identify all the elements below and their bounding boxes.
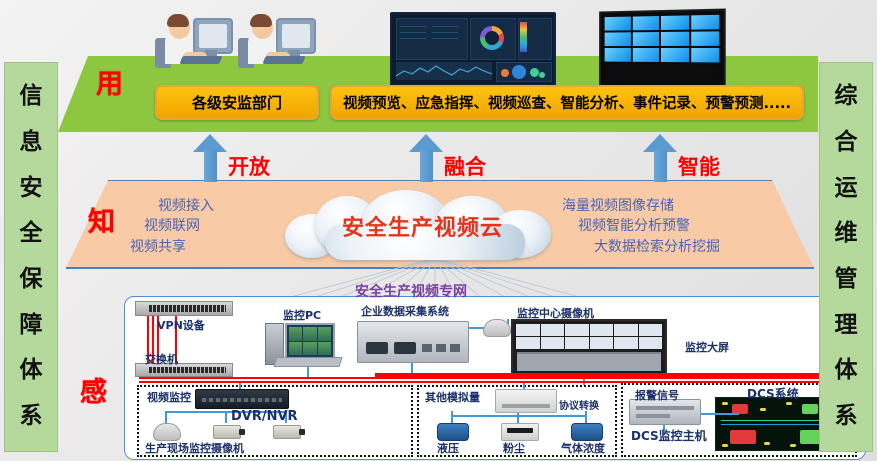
banner-right-operations-management: 综 合 运 维 管 理 体 系 bbox=[819, 62, 873, 452]
box-application-functions[interactable]: 视频预览、应急指挥、视频巡查、智能分析、事件记录、预警预测..... bbox=[330, 85, 804, 120]
cloud-right-item: 视频智能分析预警 bbox=[562, 216, 720, 236]
arrow-label-open: 开放 bbox=[228, 151, 270, 181]
banner-right-char: 运 bbox=[835, 177, 858, 200]
vpn-device-icon bbox=[135, 301, 233, 316]
banner-left-char: 安 bbox=[20, 177, 43, 200]
gas-sensor-icon bbox=[571, 423, 603, 441]
label-video-monitoring: 视频监控 bbox=[147, 389, 191, 405]
layer-tag-know: 知 bbox=[88, 200, 115, 239]
cloud-shape: 安全生产视频云 bbox=[285, 190, 560, 260]
label-enterprise-data-system: 企业数据采集系统 bbox=[361, 303, 449, 319]
video-wall-image bbox=[599, 8, 726, 89]
diagram-canvas: 信 息 安 全 保 障 体 系 综 合 运 维 管 理 体 系 bbox=[0, 0, 877, 461]
dome-camera-icon bbox=[483, 319, 511, 337]
dust-sensor-icon bbox=[501, 423, 539, 441]
arrow-intelligent-up bbox=[643, 134, 677, 182]
arrow-label-fusion: 融合 bbox=[444, 151, 486, 181]
arrow-fusion-up bbox=[409, 134, 443, 182]
data-acquisition-server-icon bbox=[357, 321, 469, 363]
analytics-dashboard-image bbox=[390, 12, 556, 86]
banner-right-char: 体 bbox=[835, 359, 858, 382]
banner-right-char: 综 bbox=[835, 85, 858, 108]
label-monitor-pc: 监控PC bbox=[283, 307, 321, 323]
ptz-camera-icon bbox=[153, 423, 181, 441]
arrow-open-up bbox=[193, 134, 227, 182]
label-site-cameras: 生产现场监控摄像机 bbox=[145, 440, 244, 456]
keyboard-icon bbox=[273, 357, 342, 367]
label-sensor-dust: 粉尘 bbox=[503, 440, 525, 456]
cloud-label-video-cloud: 安全生产视频云 bbox=[285, 210, 560, 242]
banner-left-char: 息 bbox=[20, 131, 43, 154]
label-alarm-signal: 报警信号 bbox=[635, 387, 679, 403]
control-room-big-screen-icon bbox=[511, 319, 667, 377]
banner-left-information-security: 信 息 安 全 保 障 体 系 bbox=[4, 62, 58, 452]
person-at-computer-icon bbox=[238, 12, 316, 72]
hydraulic-sensor-icon bbox=[437, 423, 469, 441]
dvr-nvr-icon bbox=[195, 389, 289, 409]
banner-left-char: 障 bbox=[20, 314, 43, 337]
cloud-left-item: 视频接入 bbox=[130, 196, 214, 216]
label-video-private-network: 安全生产视频专网 bbox=[355, 281, 467, 301]
layer-tag-sense: 感 bbox=[80, 370, 107, 409]
banner-right-char: 合 bbox=[835, 131, 858, 154]
box-safety-departments[interactable]: 各级安监部门 bbox=[155, 85, 319, 120]
label-big-screen: 监控大屏 bbox=[685, 339, 729, 355]
layer-tag-use: 用 bbox=[96, 62, 123, 101]
banner-left-char: 保 bbox=[20, 268, 43, 291]
label-center-camera: 监控中心摄像机 bbox=[517, 305, 594, 321]
cloud-right-item: 大数据检索分析挖掘 bbox=[562, 237, 720, 257]
cloud-right-item: 海量视频图像存储 bbox=[562, 196, 720, 216]
cloud-capabilities-right: 海量视频图像存储 视频智能分析预警 大数据检索分析挖掘 bbox=[562, 196, 720, 257]
cloud-left-item: 视频联网 bbox=[130, 216, 214, 236]
banner-right-char: 系 bbox=[835, 405, 858, 428]
banner-right-char: 管 bbox=[835, 268, 858, 291]
cloud-capabilities-left: 视频接入 视频联网 视频共享 bbox=[130, 196, 214, 257]
banner-left-char: 全 bbox=[20, 222, 43, 245]
label-dcs-host: DCS监控主机 bbox=[631, 427, 707, 444]
layer-infrastructure-panel: VPN设备 交换机 监控PC 企业数据采集系统 监控中心摄像机 bbox=[124, 296, 866, 460]
pc-monitor-icon bbox=[285, 323, 335, 359]
label-sensor-gas: 气体浓度 bbox=[561, 440, 605, 456]
label-dcs-system: DCS系统 bbox=[747, 385, 799, 402]
label-protocol-conversion: 协议转换 bbox=[559, 397, 599, 412]
label-dvr-nvr: DVR/NVR bbox=[231, 409, 298, 424]
label-vpn-device: VPN设备 bbox=[157, 317, 205, 333]
label-other-analog: 其他模拟量 bbox=[425, 389, 480, 405]
banner-right-char: 维 bbox=[835, 222, 858, 245]
protocol-converter-icon bbox=[495, 389, 557, 413]
person-at-computer-icon bbox=[155, 12, 233, 72]
label-switch: 交换机 bbox=[145, 351, 178, 367]
label-sensor-hydraulic: 液压 bbox=[437, 440, 459, 456]
banner-left-char: 信 bbox=[20, 85, 43, 108]
arrow-label-intelligent: 智能 bbox=[678, 151, 720, 181]
banner-right-char: 理 bbox=[835, 314, 858, 337]
bullet-camera-icon bbox=[213, 425, 241, 439]
cloud-left-item: 视频共享 bbox=[130, 237, 214, 257]
bullet-camera-icon bbox=[273, 425, 301, 439]
banner-left-char: 系 bbox=[20, 405, 43, 428]
banner-left-char: 体 bbox=[20, 359, 43, 382]
